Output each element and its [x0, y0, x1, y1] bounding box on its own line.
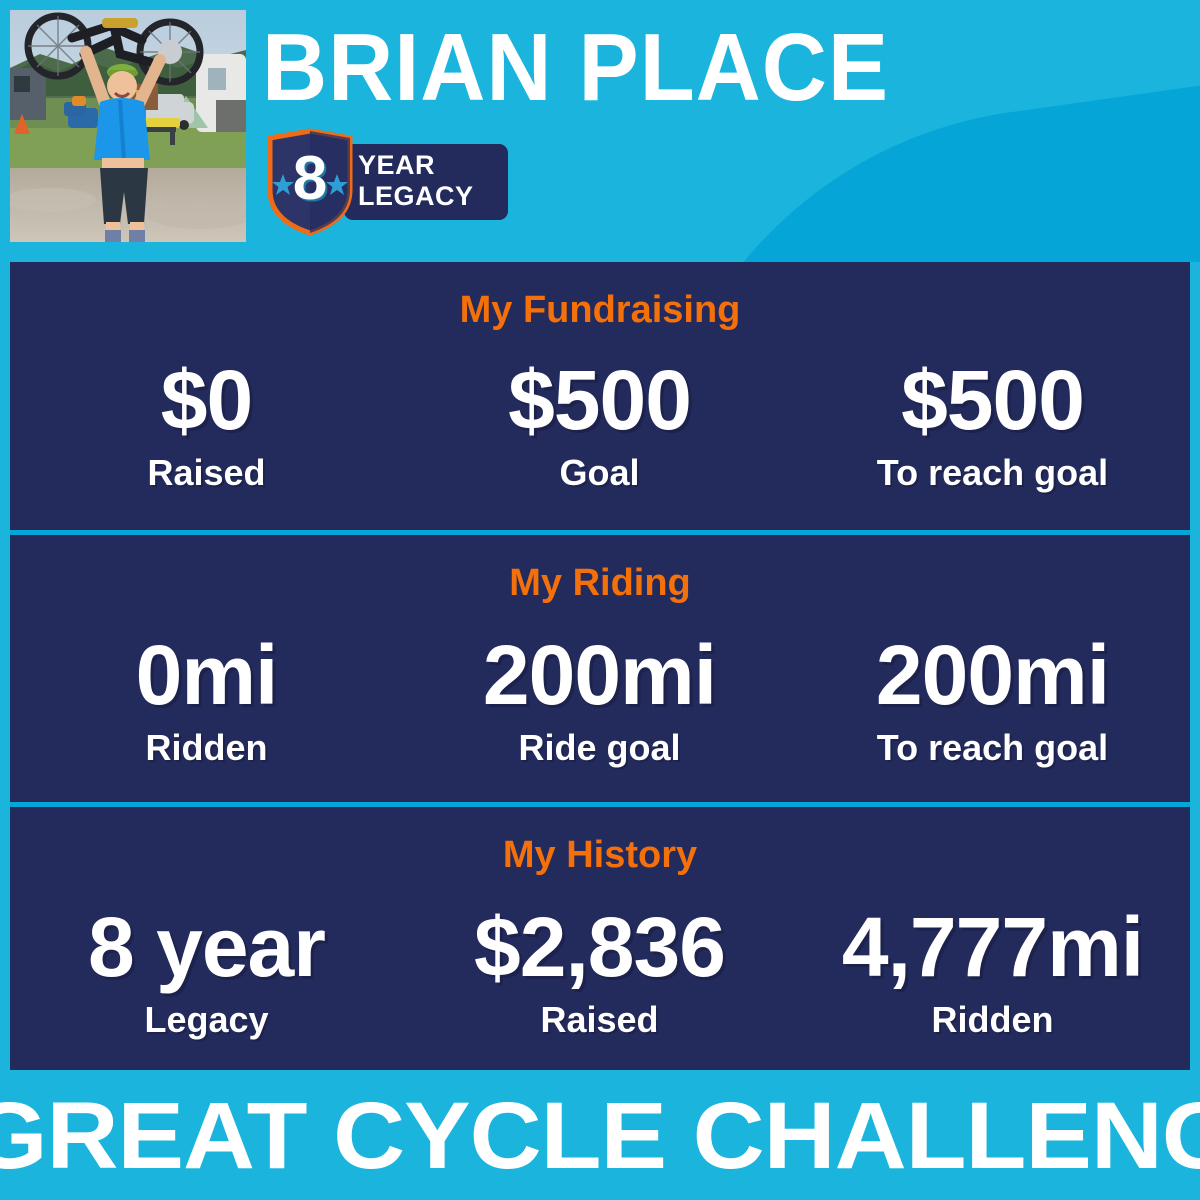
stat-label: Ride goal [403, 727, 796, 769]
stat-label: Goal [403, 452, 796, 494]
poster-footer: GREAT CYCLE CHALLENGE [0, 1070, 1200, 1200]
legacy-year-number: 8 [262, 148, 358, 210]
section-title-fundraising: My Fundraising [10, 288, 1190, 332]
stats-panel: My Fundraising $0 Raised $500 Goal $500 … [10, 262, 1190, 1070]
stat-label: Ridden [10, 727, 403, 769]
legacy-line-legacy: LEGACY [358, 181, 508, 212]
stat-label: Ridden [796, 999, 1189, 1041]
stat-ride-goal: 200mi Ride goal [403, 623, 796, 769]
athlete-photo [10, 10, 246, 242]
fundraising-poster: BRIAN PLACE YEAR LEGACY 8 My Fundraising [0, 0, 1200, 1200]
stat-legacy: 8 year Legacy [10, 895, 403, 1041]
stat-value: $500 [403, 348, 796, 452]
legacy-line-year: YEAR [358, 150, 508, 181]
stat-columns-fundraising: $0 Raised $500 Goal $500 To reach goal [10, 348, 1190, 494]
section-fundraising: My Fundraising $0 Raised $500 Goal $500 … [10, 262, 1190, 530]
stat-value: $0 [10, 348, 403, 452]
stat-value: 0mi [10, 623, 403, 727]
athlete-photo-illustration [10, 10, 246, 242]
stat-value: 200mi [796, 623, 1189, 727]
great-cycle-challenge-logo: GREAT CYCLE CHALLENGE [0, 1086, 1200, 1186]
stat-raised: $0 Raised [10, 348, 403, 494]
section-title-riding: My Riding [10, 561, 1190, 605]
stat-value: 200mi [403, 623, 796, 727]
stat-value: $500 [796, 348, 1189, 452]
stat-value: 8 year [10, 895, 403, 999]
section-title-history: My History [10, 833, 1190, 877]
section-history: My History 8 year Legacy $2,836 Raised 4… [10, 802, 1190, 1070]
stat-label: Raised [10, 452, 403, 494]
legacy-badge: YEAR LEGACY 8 [262, 128, 508, 236]
stat-columns-riding: 0mi Ridden 200mi Ride goal 200mi To reac… [10, 623, 1190, 769]
stat-history-raised: $2,836 Raised [403, 895, 796, 1041]
stat-value: $2,836 [403, 895, 796, 999]
stat-label: Legacy [10, 999, 403, 1041]
stat-to-reach-goal: $500 To reach goal [796, 348, 1189, 494]
poster-header: BRIAN PLACE YEAR LEGACY 8 [0, 0, 1200, 262]
stat-label: To reach goal [796, 452, 1189, 494]
stat-ridden: 0mi Ridden [10, 623, 403, 769]
stat-goal: $500 Goal [403, 348, 796, 494]
stat-history-ridden: 4,777mi Ridden [796, 895, 1189, 1041]
stat-ride-to-reach-goal: 200mi To reach goal [796, 623, 1189, 769]
stat-label: Raised [403, 999, 796, 1041]
page-title: BRIAN PLACE [262, 14, 920, 122]
stat-label: To reach goal [796, 727, 1189, 769]
stat-value: 4,777mi [796, 895, 1189, 999]
stat-columns-history: 8 year Legacy $2,836 Raised 4,777mi Ridd… [10, 895, 1190, 1041]
section-riding: My Riding 0mi Ridden 200mi Ride goal 200… [10, 530, 1190, 802]
legacy-plate-text: YEAR LEGACY [358, 150, 508, 212]
